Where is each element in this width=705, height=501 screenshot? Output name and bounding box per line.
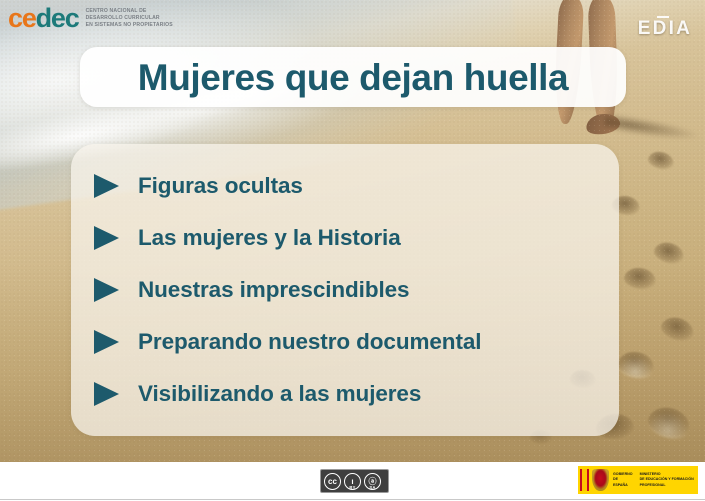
menu-item-las-mujeres-y-la-historia[interactable]: Las mujeres y la Historia bbox=[92, 212, 612, 264]
slide-root: EDIA Mujeres que dejan huella Figuras oc… bbox=[0, 0, 705, 501]
menu-item-figuras-ocultas[interactable]: Figuras ocultas bbox=[92, 160, 612, 212]
cedec-wordmark: cedec bbox=[8, 5, 79, 32]
cc-logo-icon: cc bbox=[324, 473, 341, 490]
government-name: Gobierno de España bbox=[613, 472, 633, 488]
cedec-subtitle-line-2: Desarrollo Curricular bbox=[86, 15, 160, 21]
cedec-word-ce: ce bbox=[8, 3, 36, 33]
cedec-subtitle: Centro Nacional de Desarrollo Curricular… bbox=[86, 8, 173, 30]
menu-item-preparando-nuestro-documental[interactable]: Preparando nuestro documental bbox=[92, 316, 612, 368]
government-logo[interactable]: Gobierno de España Ministerio de Educaci… bbox=[578, 466, 698, 494]
cedec-subtitle-line-1: Centro Nacional de bbox=[86, 8, 147, 14]
play-triangle-icon bbox=[92, 327, 120, 357]
ministry-name: Ministerio de Educación y Formación Prof… bbox=[640, 472, 698, 488]
menu-item-nuestras-imprescindibles[interactable]: Nuestras imprescindibles bbox=[92, 264, 612, 316]
menu-item-label: Figuras ocultas bbox=[138, 173, 303, 199]
play-triangle-icon bbox=[92, 223, 120, 253]
menu-item-label: Nuestras imprescindibles bbox=[138, 277, 409, 303]
spain-coat-of-arms-icon bbox=[592, 469, 609, 491]
menu-item-label: Visibilizando a las mujeres bbox=[138, 381, 421, 407]
cedec-subtitle-line-3: en Sistemas No Propietarios bbox=[86, 22, 173, 28]
cc-by-label: BY bbox=[349, 485, 355, 490]
cedec-logo[interactable]: cedec Centro Nacional de Desarrollo Curr… bbox=[8, 5, 173, 32]
play-triangle-icon bbox=[92, 379, 120, 409]
menu-item-visibilizando-a-las-mujeres[interactable]: Visibilizando a las mujeres bbox=[92, 368, 612, 420]
menu-item-label: Preparando nuestro documental bbox=[138, 329, 481, 355]
cc-mark-text: cc bbox=[328, 477, 337, 486]
cc-sa-icon: ⓐ SA bbox=[364, 473, 381, 490]
spain-flag-icon bbox=[580, 469, 589, 491]
footer-divider bbox=[0, 499, 705, 500]
cc-by-icon: ı BY bbox=[344, 473, 361, 490]
play-triangle-icon bbox=[92, 275, 120, 305]
cc-sa-label: SA bbox=[369, 485, 375, 490]
page-title: Mujeres que dejan huella bbox=[138, 59, 568, 96]
section-menu: Figuras ocultas Las mujeres y la Histori… bbox=[92, 160, 612, 420]
cedec-word-dec: dec bbox=[36, 3, 79, 33]
title-banner: Mujeres que dejan huella bbox=[80, 47, 626, 107]
creative-commons-badge[interactable]: cc ı BY ⓐ SA bbox=[320, 469, 389, 493]
play-triangle-icon bbox=[92, 171, 120, 201]
edia-logo: EDIA bbox=[638, 18, 692, 40]
menu-item-label: Las mujeres y la Historia bbox=[138, 225, 401, 251]
